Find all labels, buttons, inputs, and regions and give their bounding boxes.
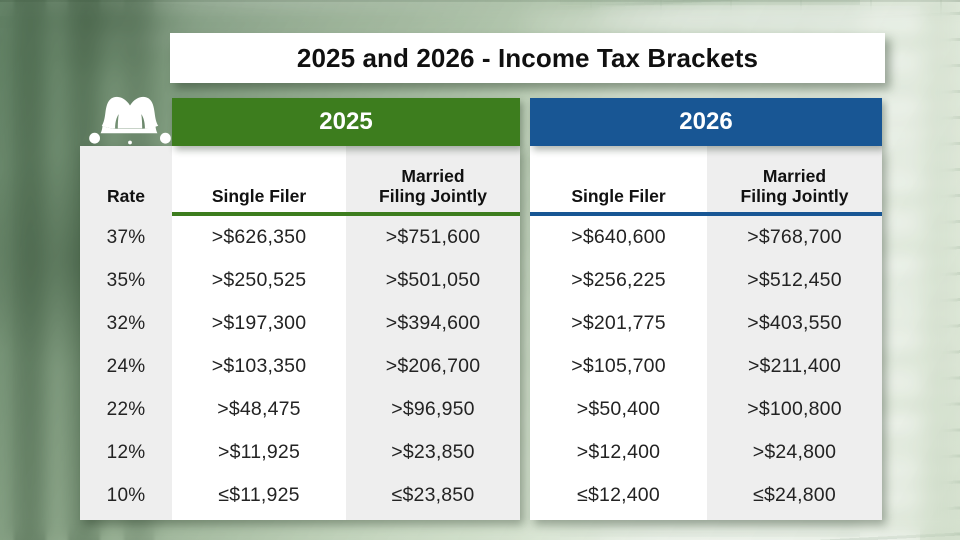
table-cell-mfj-2025: >$394,600 <box>346 302 520 345</box>
table-cell-mfj-2025: >$751,600 <box>346 216 520 259</box>
table-cell-rate: 37% <box>80 216 172 259</box>
table-cell-mfj-2026: >$211,400 <box>707 345 882 388</box>
column-header-rate: Rate <box>80 146 172 216</box>
table-cell-mfj-2026: >$403,550 <box>707 302 882 345</box>
tax-bracket-table-2025: Rate 37% 35% 32% 24% 22% 12% 10% Single … <box>80 146 520 520</box>
column-header-single-filer: Single Filer <box>172 146 346 216</box>
year-header-2026: 2026 <box>530 98 882 146</box>
column-header-single-filer: Single Filer <box>530 146 707 216</box>
table-cell-single-2025: >$250,525 <box>172 259 346 302</box>
table-cell-single-2026: >$201,775 <box>530 302 707 345</box>
table-cell-rate: 35% <box>80 259 172 302</box>
column-married-filing-jointly-2026: Married Filing Jointly >$768,700 >$512,4… <box>707 146 882 520</box>
column-married-filing-jointly-2025: Married Filing Jointly >$751,600 >$501,0… <box>346 146 520 520</box>
table-cell-single-2026: >$256,225 <box>530 259 707 302</box>
table-cell-rate: 12% <box>80 431 172 474</box>
column-header-married-filing-jointly: Married Filing Jointly <box>707 146 882 216</box>
tax-bracket-table-2026: Single Filer >$640,600 >$256,225 >$201,7… <box>530 146 882 520</box>
table-cell-rate: 32% <box>80 302 172 345</box>
table-cell-mfj-2026: ≤$24,800 <box>707 474 882 517</box>
table-cell-mfj-2026: >$100,800 <box>707 388 882 431</box>
table-cell-single-2025: ≤$11,925 <box>172 474 346 517</box>
table-cell-mfj-2026: >$512,450 <box>707 259 882 302</box>
year-header-2025: 2025 <box>172 98 520 146</box>
table-cell-single-2026: >$105,700 <box>530 345 707 388</box>
table-cell-rate: 10% <box>80 474 172 517</box>
table-cell-mfj-2025: >$23,850 <box>346 431 520 474</box>
table-cell-single-2025: >$197,300 <box>172 302 346 345</box>
table-cell-single-2025: >$103,350 <box>172 345 346 388</box>
table-cell-mfj-2025: >$206,700 <box>346 345 520 388</box>
column-rate: Rate 37% 35% 32% 24% 22% 12% 10% <box>80 146 172 520</box>
page-title: 2025 and 2026 - Income Tax Brackets <box>297 43 758 74</box>
year-label-2026: 2026 <box>679 108 732 136</box>
year-label-2025: 2025 <box>319 108 372 136</box>
table-cell-single-2026: >$12,400 <box>530 431 707 474</box>
column-single-filer-2025: Single Filer >$626,350 >$250,525 >$197,3… <box>172 146 346 520</box>
table-cell-mfj-2025: >$96,950 <box>346 388 520 431</box>
table-cell-single-2025: >$626,350 <box>172 216 346 259</box>
title-card: 2025 and 2026 - Income Tax Brackets <box>170 33 885 83</box>
table-cell-single-2025: >$48,475 <box>172 388 346 431</box>
table-cell-single-2025: >$11,925 <box>172 431 346 474</box>
column-header-married-filing-jointly: Married Filing Jointly <box>346 146 520 216</box>
table-cell-rate: 22% <box>80 388 172 431</box>
table-cell-single-2026: >$50,400 <box>530 388 707 431</box>
column-single-filer-2026: Single Filer >$640,600 >$256,225 >$201,7… <box>530 146 707 520</box>
table-cell-single-2026: ≤$12,400 <box>530 474 707 517</box>
table-cell-single-2026: >$640,600 <box>530 216 707 259</box>
table-cell-mfj-2026: >$24,800 <box>707 431 882 474</box>
motley-fool-jester-cap-logo <box>88 96 172 146</box>
table-cell-mfj-2025: >$501,050 <box>346 259 520 302</box>
table-cell-rate: 24% <box>80 345 172 388</box>
table-cell-mfj-2025: ≤$23,850 <box>346 474 520 517</box>
table-cell-mfj-2026: >$768,700 <box>707 216 882 259</box>
